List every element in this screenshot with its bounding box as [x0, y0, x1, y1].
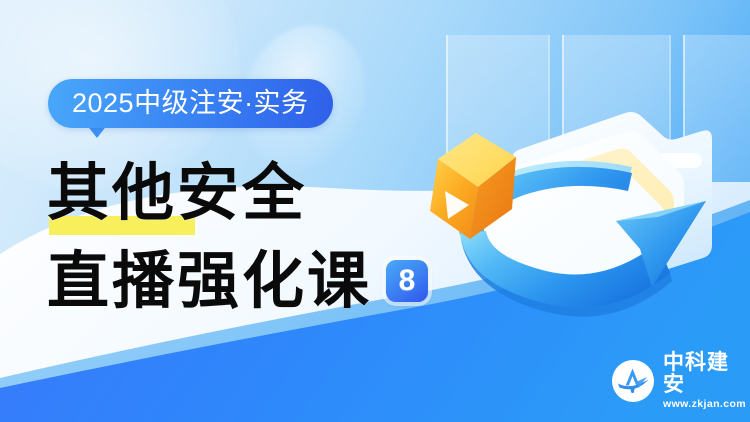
course-promo-banner: 2025中级注安·实务 其他安全 直播强化课 8 中科建安 www.zkjan.…: [0, 0, 750, 422]
brand-logo[interactable]: 中科建安 www.zkjan.com: [612, 352, 750, 410]
folder-arrow-illustration: [420, 95, 720, 345]
episode-number-badge: 8: [386, 260, 428, 302]
course-category-label: 2025中级注安·实务: [72, 90, 309, 117]
brand-text: 中科建安 www.zkjan.com: [663, 352, 750, 410]
headline-line-1: 其他安全: [47, 162, 307, 224]
brand-name: 中科建安: [663, 352, 750, 396]
brand-url: www.zkjan.com: [663, 399, 750, 410]
mountain-swoosh-logo-icon: [612, 360, 654, 402]
headline-line-2: 直播强化课: [47, 250, 372, 312]
course-category-badge[interactable]: 2025中级注安·实务: [48, 79, 333, 128]
headline-line-2-wrap: 直播强化课 8: [47, 250, 428, 312]
